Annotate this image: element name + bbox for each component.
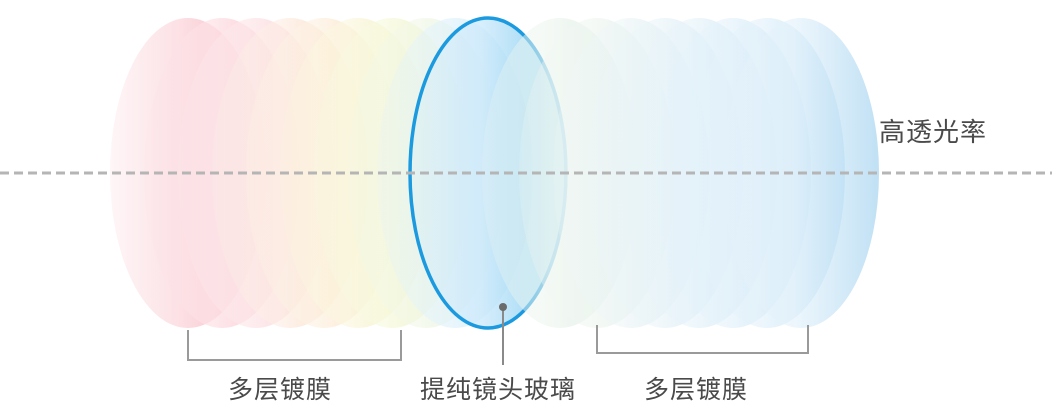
label-left-coating: 多层镀膜 (228, 377, 332, 402)
bracket-right-coating (597, 325, 808, 353)
leader-dot-center-glass (499, 303, 507, 311)
label-center-glass: 提纯镜头玻璃 (420, 377, 576, 402)
bracket-left-coating (188, 330, 401, 360)
label-right-coating: 多层镀膜 (644, 377, 748, 402)
lens-diagram-stage: 多层镀膜 提纯镜头玻璃 多层镀膜 高透光率 (0, 0, 1052, 419)
lens-diagram-svg (0, 0, 1052, 419)
label-high-transmittance: 高透光率 (879, 120, 987, 146)
